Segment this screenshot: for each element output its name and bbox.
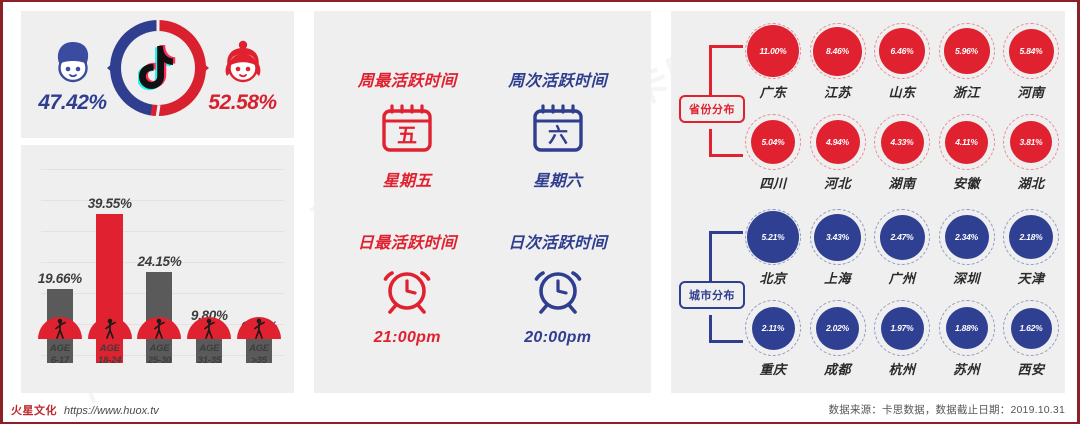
age-distribution-panel: 19.66%39.55%24.15%9.80%6.84% AGE6-17AGE1… xyxy=(21,145,294,393)
alarm-clock-icon xyxy=(530,262,586,321)
time-stat-heading: 周次活跃时间 xyxy=(508,67,607,91)
gender-donut xyxy=(110,20,206,116)
bubble-wrapper: 6.46% xyxy=(874,23,930,79)
geo-row: 5.04%四川4.94%河北4.33%湖南4.11%安徽3.81%湖北 xyxy=(743,112,1061,203)
city-distribution-block: 城市分布 5.21%北京3.43%上海2.47%广州2.34%深圳2.18%天津… xyxy=(671,207,1065,389)
alarm-clock-icon xyxy=(379,262,435,321)
dashed-ring xyxy=(874,23,930,79)
geo-item[interactable]: 1.62%西安 xyxy=(1001,300,1061,378)
time-stat-value: 星期六 xyxy=(533,167,582,191)
bubble-wrapper: 4.33% xyxy=(874,114,930,170)
geo-item[interactable]: 2.18%天津 xyxy=(1001,209,1061,287)
data-source-note: 数据来源：卡思数据，数据截止日期：2019.10.31 xyxy=(829,402,1065,417)
geo-region-name: 上海 xyxy=(824,268,851,287)
geo-region-name: 北京 xyxy=(759,268,786,287)
bubble-wrapper: 4.94% xyxy=(810,114,866,170)
geo-item[interactable]: 1.97%杭州 xyxy=(872,300,932,378)
time-stat-cell: 日次活跃时间20:00pm xyxy=(483,208,634,367)
city-badge: 城市分布 xyxy=(679,281,745,309)
bubble-wrapper: 3.81% xyxy=(1003,114,1059,170)
time-stat-heading: 日次活跃时间 xyxy=(508,229,607,253)
infographic-root: 卡思数据 卡思数据 卡思数据 47.42% xyxy=(0,0,1080,424)
geo-region-name: 湖南 xyxy=(888,173,915,192)
bubble-wrapper: 1.88% xyxy=(939,300,995,356)
dashed-ring xyxy=(745,300,801,356)
geo-item[interactable]: 6.46%山东 xyxy=(872,23,932,101)
bubble-wrapper: 2.34% xyxy=(939,209,995,265)
axis-label: AGE31-35 xyxy=(185,343,233,367)
male-percent: 47.42% xyxy=(30,91,116,115)
dashed-ring xyxy=(810,209,866,265)
dashed-ring xyxy=(874,114,930,170)
geo-region-name: 河南 xyxy=(1017,82,1044,101)
dashed-ring xyxy=(745,114,801,170)
axis-label: AGE25-30 xyxy=(135,343,183,367)
geo-region-name: 成都 xyxy=(824,359,851,378)
geo-item[interactable]: 4.11%安徽 xyxy=(937,114,997,192)
time-stat-heading: 日最活跃时间 xyxy=(358,229,457,253)
svg-text:五: 五 xyxy=(397,123,417,147)
dashed-ring xyxy=(810,300,866,356)
bubble-wrapper: 4.11% xyxy=(939,114,995,170)
bubble-wrapper: 5.21% xyxy=(745,209,801,265)
dashed-ring xyxy=(939,300,995,356)
geo-distribution-panel: 省份分布 11.00%广东8.46%江苏6.46%山东5.96%浙江5.84%河… xyxy=(671,11,1065,393)
dashed-ring xyxy=(874,209,930,265)
x-axis-labels: AGE6-17AGE18-24AGE25-30AGE31-35AGE>35 xyxy=(35,317,284,383)
dancer-base-icon xyxy=(88,317,132,339)
axis-category: AGE25-30 xyxy=(135,317,183,367)
geo-item[interactable]: 1.88%苏州 xyxy=(937,300,997,378)
geo-region-name: 西安 xyxy=(1017,359,1044,378)
geo-item[interactable]: 5.84%河南 xyxy=(1001,23,1061,101)
geo-region-name: 重庆 xyxy=(759,359,786,378)
geo-row: 2.11%重庆2.02%成都1.97%杭州1.88%苏州1.62%西安 xyxy=(743,298,1061,389)
brand-name: 火星文化 xyxy=(11,402,57,418)
male-pointer-icon xyxy=(107,57,120,79)
calendar-icon: 六 xyxy=(530,100,586,159)
geo-region-name: 苏州 xyxy=(953,359,980,378)
bubble-wrapper: 11.00% xyxy=(745,23,801,79)
bubble-wrapper: 8.46% xyxy=(810,23,866,79)
bubble-wrapper: 3.43% xyxy=(810,209,866,265)
axis-label: AGE6-17 xyxy=(36,343,84,367)
female-percent: 52.58% xyxy=(200,91,286,115)
gender-male: 47.42% xyxy=(30,35,116,115)
geo-item[interactable]: 5.04%四川 xyxy=(743,114,803,192)
geo-region-name: 广州 xyxy=(888,268,915,287)
geo-region-name: 天津 xyxy=(1017,268,1044,287)
geo-item[interactable]: 2.02%成都 xyxy=(808,300,868,378)
time-stat-value: 20:00pm xyxy=(524,329,591,347)
bubble-wrapper: 2.18% xyxy=(1003,209,1059,265)
brand-url[interactable]: https://www.huox.tv xyxy=(64,405,159,417)
geo-item[interactable]: 2.34%深圳 xyxy=(937,209,997,287)
female-avatar-icon xyxy=(200,35,286,89)
dancer-base-icon xyxy=(237,317,281,339)
axis-category: AGE18-24 xyxy=(86,317,134,367)
calendar-icon: 五 xyxy=(379,100,435,159)
geo-item[interactable]: 3.43%上海 xyxy=(808,209,868,287)
geo-item[interactable]: 3.81%湖北 xyxy=(1001,114,1061,192)
dancer-base-icon xyxy=(137,317,181,339)
geo-item[interactable]: 11.00%广东 xyxy=(743,23,803,101)
dashed-ring xyxy=(745,209,801,265)
geo-region-name: 四川 xyxy=(759,173,786,192)
axis-label: AGE18-24 xyxy=(86,343,134,367)
axis-category: AGE>35 xyxy=(235,317,283,367)
dashed-ring xyxy=(1003,300,1059,356)
male-avatar-icon xyxy=(30,35,116,89)
active-time-panel: 周最活跃时间五星期五周次活跃时间六星期六日最活跃时间21:00pm日次活跃时间2… xyxy=(314,11,651,393)
dashed-ring xyxy=(745,23,801,79)
geo-region-name: 山东 xyxy=(888,82,915,101)
geo-row: 5.21%北京3.43%上海2.47%广州2.34%深圳2.18%天津 xyxy=(743,207,1061,298)
dashed-ring xyxy=(810,23,866,79)
dashed-ring xyxy=(1003,23,1059,79)
time-stat-cell: 日最活跃时间21:00pm xyxy=(332,208,483,367)
geo-item[interactable]: 5.96%浙江 xyxy=(937,23,997,101)
geo-item[interactable]: 4.33%湖南 xyxy=(872,114,932,192)
bar-value-label: 24.15% xyxy=(137,254,181,269)
geo-item[interactable]: 5.21%北京 xyxy=(743,209,803,287)
dashed-ring xyxy=(939,209,995,265)
geo-region-name: 湖北 xyxy=(1017,173,1044,192)
geo-region-name: 河北 xyxy=(824,173,851,192)
axis-category: AGE6-17 xyxy=(36,317,84,367)
footer-brand: 火星文化 https://www.huox.tv xyxy=(11,402,159,418)
geo-item[interactable]: 8.46%江苏 xyxy=(808,23,868,101)
dashed-ring xyxy=(939,114,995,170)
geo-region-name: 杭州 xyxy=(888,359,915,378)
dashed-ring xyxy=(810,114,866,170)
geo-region-name: 深圳 xyxy=(953,268,980,287)
tiktok-logo-icon xyxy=(138,45,178,91)
bubble-wrapper: 1.62% xyxy=(1003,300,1059,356)
geo-region-name: 江苏 xyxy=(824,82,851,101)
dancer-base-icon xyxy=(187,317,231,339)
bubble-wrapper: 2.02% xyxy=(810,300,866,356)
dashed-ring xyxy=(874,300,930,356)
geo-item[interactable]: 2.47%广州 xyxy=(872,209,932,287)
time-stat-heading: 周最活跃时间 xyxy=(358,67,457,91)
dashed-ring xyxy=(1003,114,1059,170)
axis-category: AGE31-35 xyxy=(185,317,233,367)
dashed-ring xyxy=(939,23,995,79)
svg-text:六: 六 xyxy=(548,123,568,147)
geo-item[interactable]: 4.94%河北 xyxy=(808,114,868,192)
bubble-wrapper: 5.84% xyxy=(1003,23,1059,79)
time-stat-value: 星期五 xyxy=(383,167,432,191)
donut-gap-top xyxy=(156,18,159,31)
province-distribution-block: 省份分布 11.00%广东8.46%江苏6.46%山东5.96%浙江5.84%河… xyxy=(671,21,1065,203)
geo-item[interactable]: 2.11%重庆 xyxy=(743,300,803,378)
axis-label: AGE>35 xyxy=(235,343,283,367)
time-stat-cell: 周最活跃时间五星期五 xyxy=(332,49,483,208)
time-stat-cell: 周次活跃时间六星期六 xyxy=(483,49,634,208)
dancer-base-icon xyxy=(38,317,82,339)
geo-region-name: 广东 xyxy=(759,82,786,101)
bubble-wrapper: 1.97% xyxy=(874,300,930,356)
time-stat-value: 21:00pm xyxy=(374,329,441,347)
gender-female: 52.58% xyxy=(200,35,286,115)
geo-row: 11.00%广东8.46%江苏6.46%山东5.96%浙江5.84%河南 xyxy=(743,21,1061,112)
geo-region-name: 浙江 xyxy=(953,82,980,101)
bar-value-label: 19.66% xyxy=(38,271,82,286)
bubble-wrapper: 5.96% xyxy=(939,23,995,79)
bar-value-label: 39.55% xyxy=(88,196,132,211)
gender-distribution-panel: 47.42% xyxy=(21,11,294,138)
bubble-wrapper: 2.11% xyxy=(745,300,801,356)
bubble-wrapper: 2.47% xyxy=(874,209,930,265)
dashed-ring xyxy=(1003,209,1059,265)
geo-region-name: 安徽 xyxy=(953,173,980,192)
bubble-wrapper: 5.04% xyxy=(745,114,801,170)
province-badge: 省份分布 xyxy=(679,95,745,123)
